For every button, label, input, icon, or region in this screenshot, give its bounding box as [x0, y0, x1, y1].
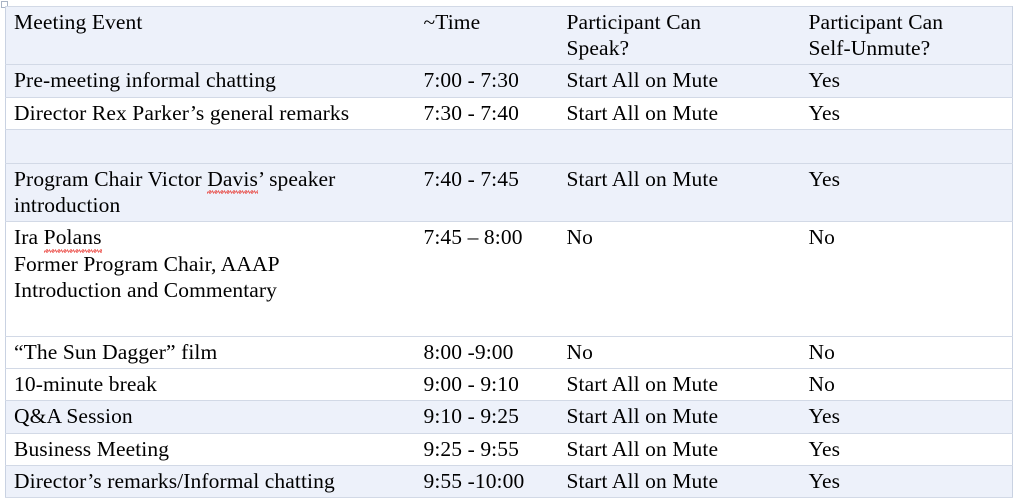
table-header: Meeting Event ~Time Participant Can Spea… — [6, 7, 1013, 65]
cell-unmute: No — [801, 222, 1013, 337]
cell-event: 10-minute break — [6, 369, 416, 401]
cell-unmute — [801, 129, 1013, 163]
cell-event: Director Rex Parker’s general remarks — [6, 97, 416, 129]
table-row: Business Meeting 9:25 - 9:55 Start All o… — [6, 433, 1013, 465]
cell-speak: Start All on Mute — [559, 465, 801, 497]
table-row: 10-minute break 9:00 - 9:10 Start All on… — [6, 369, 1013, 401]
cell-event: Director’s remarks/Informal chatting — [6, 465, 416, 497]
table-row: Director’s remarks/Informal chatting 9:5… — [6, 465, 1013, 497]
table-row: Program Chair Victor Davis’ speaker intr… — [6, 163, 1013, 221]
column-header-unmute: Participant Can Self-Unmute? — [801, 7, 1013, 65]
header-row: Meeting Event ~Time Participant Can Spea… — [6, 7, 1013, 65]
column-header-speak-line2: Speak? — [567, 35, 801, 61]
column-header-unmute-line2: Self-Unmute? — [809, 35, 1013, 61]
column-header-event: Meeting Event — [6, 7, 416, 65]
cell-speak: Start All on Mute — [559, 433, 801, 465]
cell-time: 7:30 - 7:40 — [416, 97, 559, 129]
cell-speak: Start All on Mute — [559, 401, 801, 433]
cell-event: “The Sun Dagger” film — [6, 336, 416, 368]
cell-unmute: No — [801, 336, 1013, 368]
cell-time: 9:10 - 9:25 — [416, 401, 559, 433]
table-row: “The Sun Dagger” film 8:00 -9:00 No No — [6, 336, 1013, 368]
cell-event: Ira Polans Former Program Chair, AAAP In… — [6, 222, 416, 337]
cell-event-line2: Former Program Chair, AAAP — [14, 251, 416, 277]
cell-speak: Start All on Mute — [559, 163, 801, 221]
cell-speak: Start All on Mute — [559, 65, 801, 97]
cell-event: Business Meeting — [6, 433, 416, 465]
cell-unmute: Yes — [801, 163, 1013, 221]
document-page: Meeting Event ~Time Participant Can Spea… — [0, 0, 1023, 479]
cell-speak — [559, 129, 801, 163]
column-header-time: ~Time — [416, 7, 559, 65]
column-header-speak: Participant Can Speak? — [559, 7, 801, 65]
cell-time: 8:00 -9:00 — [416, 336, 559, 368]
table-row-empty — [6, 129, 1013, 163]
column-header-speak-line1: Participant Can — [567, 9, 801, 35]
meeting-schedule-table: Meeting Event ~Time Participant Can Spea… — [5, 6, 1013, 498]
table-row: Pre-meeting informal chatting 7:00 - 7:3… — [6, 65, 1013, 97]
cell-time: 9:55 -10:00 — [416, 465, 559, 497]
column-header-unmute-line1: Participant Can — [809, 9, 1013, 35]
cell-unmute: Yes — [801, 97, 1013, 129]
cell-unmute: Yes — [801, 465, 1013, 497]
cell-speak: Start All on Mute — [559, 369, 801, 401]
cell-event: Program Chair Victor Davis’ speaker intr… — [6, 163, 416, 221]
cell-event-line1-part1: Ira — [14, 225, 44, 249]
cell-time: 9:25 - 9:55 — [416, 433, 559, 465]
cell-event-line3: Introduction and Commentary — [14, 277, 416, 333]
cell-speak: No — [559, 336, 801, 368]
cell-event: Q&A Session — [6, 401, 416, 433]
table-row: Director Rex Parker’s general remarks 7:… — [6, 97, 1013, 129]
cell-event — [6, 129, 416, 163]
cell-time: 9:00 - 9:10 — [416, 369, 559, 401]
cell-unmute: Yes — [801, 401, 1013, 433]
cell-time: 7:40 - 7:45 — [416, 163, 559, 221]
cell-event-line1: Ira Polans — [14, 224, 416, 250]
table-body: Pre-meeting informal chatting 7:00 - 7:3… — [6, 65, 1013, 498]
cell-speak: No — [559, 222, 801, 337]
misspelled-word: Davis — [207, 166, 258, 192]
cell-unmute: Yes — [801, 65, 1013, 97]
cell-time — [416, 129, 559, 163]
misspelled-word: Polans — [44, 224, 102, 250]
cell-time: 7:45 – 8:00 — [416, 222, 559, 337]
cell-time: 7:00 - 7:30 — [416, 65, 559, 97]
cell-unmute: Yes — [801, 433, 1013, 465]
cell-event-text-part1: Program Chair Victor — [14, 167, 207, 191]
cell-event: Pre-meeting informal chatting — [6, 65, 416, 97]
cell-unmute: No — [801, 369, 1013, 401]
cell-speak: Start All on Mute — [559, 97, 801, 129]
table-row: Q&A Session 9:10 - 9:25 Start All on Mut… — [6, 401, 1013, 433]
table-row: Ira Polans Former Program Chair, AAAP In… — [6, 222, 1013, 337]
